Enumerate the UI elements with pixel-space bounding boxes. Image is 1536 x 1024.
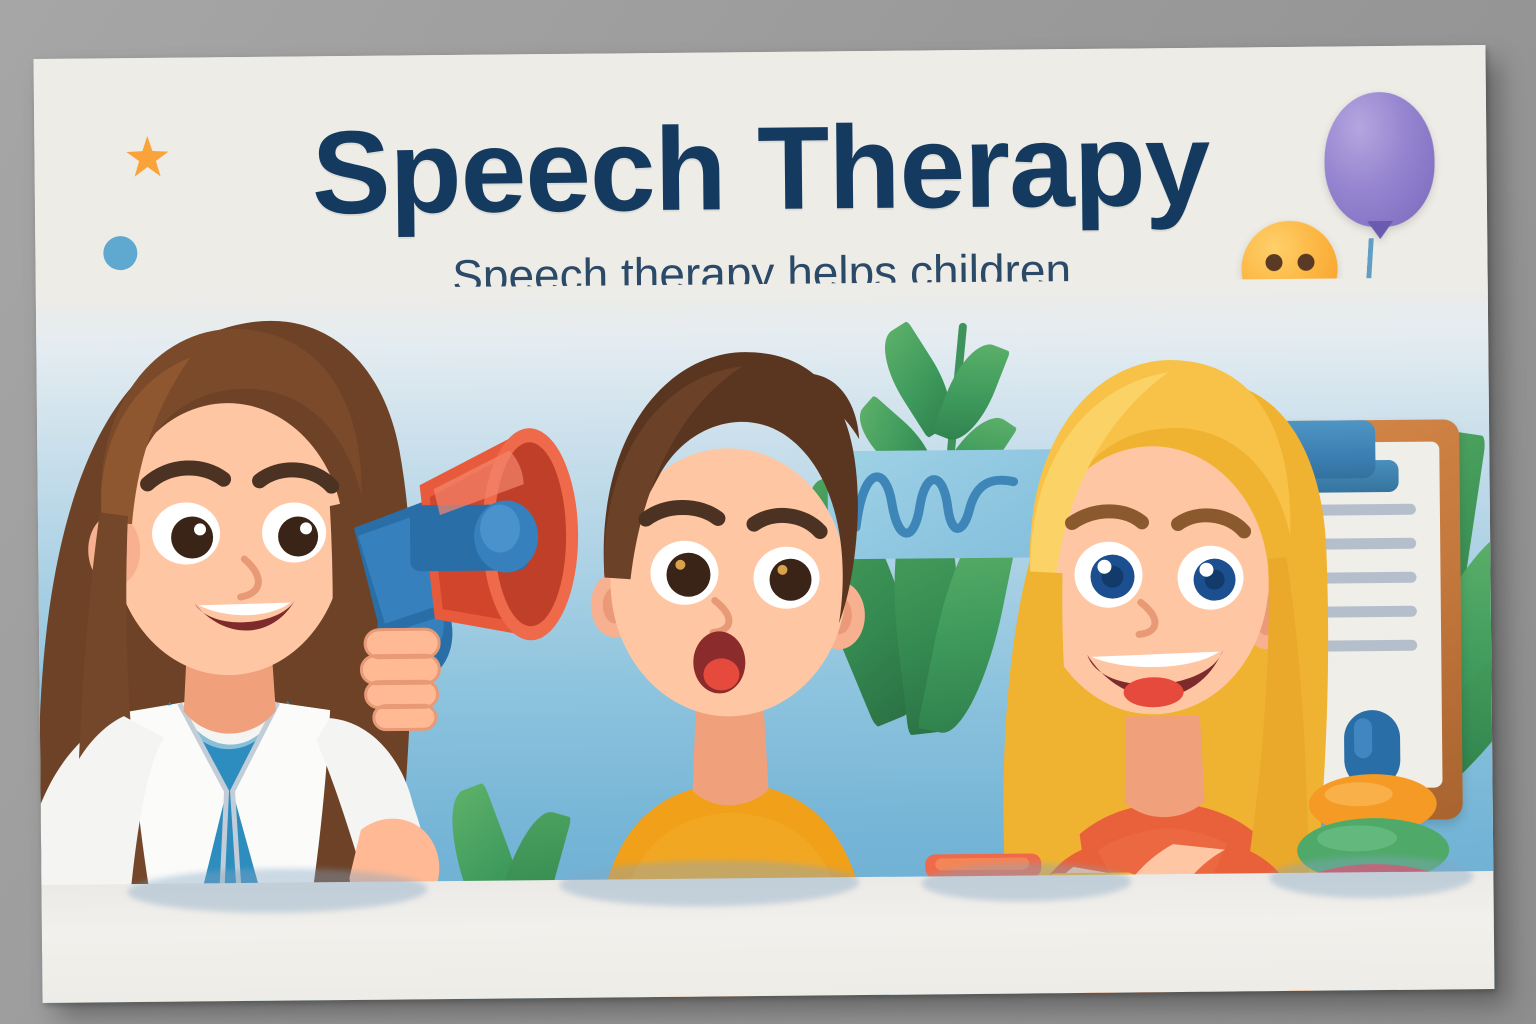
canvas: Speech Therapy Speech therapy helps chil… — [0, 0, 1536, 1024]
table-surface — [41, 871, 1494, 1003]
page-title: Speech Therapy — [34, 103, 1487, 235]
poster: Speech Therapy Speech therapy helps chil… — [34, 45, 1495, 1003]
balloon-icon — [1324, 92, 1435, 228]
table-shadow — [921, 862, 1131, 902]
scene-illustration — [36, 277, 1495, 1003]
poster-header: Speech Therapy Speech therapy helps chil… — [34, 45, 1488, 309]
table-shadow — [1269, 855, 1473, 899]
